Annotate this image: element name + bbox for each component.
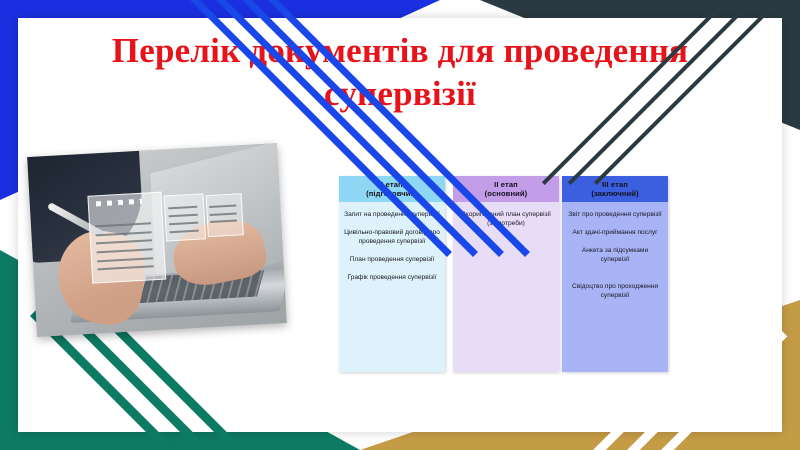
laptop-documents-photo [27, 143, 287, 337]
stage-column-1-header: I етап (підготовчий) [339, 176, 445, 202]
list-item: Звіт про проведення супервізії [567, 210, 663, 219]
stage-subtitle: (заключний) [591, 189, 638, 198]
stage-title: II етап [494, 180, 518, 189]
presentation-slide: Перелік документів для проведення суперв… [0, 0, 800, 450]
stage-title: I етап [381, 180, 402, 189]
list-item: Запит на проведення супервізії [344, 210, 440, 219]
list-item: Анкета за підсумками супервізії [567, 246, 663, 264]
stage-column-2[interactable]: II етап (основний) Скоригований план суп… [453, 176, 559, 372]
page-title: Перелік документів для проведення суперв… [60, 30, 740, 115]
stage-column-2-body: Скоригований план супервізії (за потреби… [453, 202, 559, 372]
stage-subtitle: (основний) [485, 189, 528, 198]
stage-title: III етап [602, 180, 628, 189]
list-item: Скоригований план супервізії (за потреби… [458, 210, 554, 228]
stage-column-3-header: III етап (заключний) [562, 176, 668, 202]
list-item: Акт здачі-приймання послуг [567, 228, 663, 237]
stage-column-1-body: Запит на проведення супервізії Цивільно-… [339, 202, 445, 372]
stage-column-3[interactable]: III етап (заключний) Звіт про проведення… [562, 176, 668, 372]
list-item: План проведення супервізії [344, 255, 440, 264]
list-item: Графік проведення супервізії [344, 273, 440, 282]
stage-subtitle: (підготовчий) [366, 189, 418, 198]
list-item: Цивільно-правовий договір про проведення… [344, 228, 440, 246]
stage-column-1[interactable]: I етап (підготовчий) Запит на проведення… [339, 176, 445, 372]
document-hologram-icon-3 [206, 193, 244, 237]
list-item: Свідоцтво про проходження супервізії [567, 282, 663, 300]
stage-column-2-header: II етап (основний) [453, 176, 559, 202]
stage-column-3-body: Звіт про проведення супервізії Акт здачі… [562, 202, 668, 372]
document-hologram-icon-2 [164, 193, 207, 241]
stages-table: I етап (підготовчий) Запит на проведення… [339, 176, 669, 372]
